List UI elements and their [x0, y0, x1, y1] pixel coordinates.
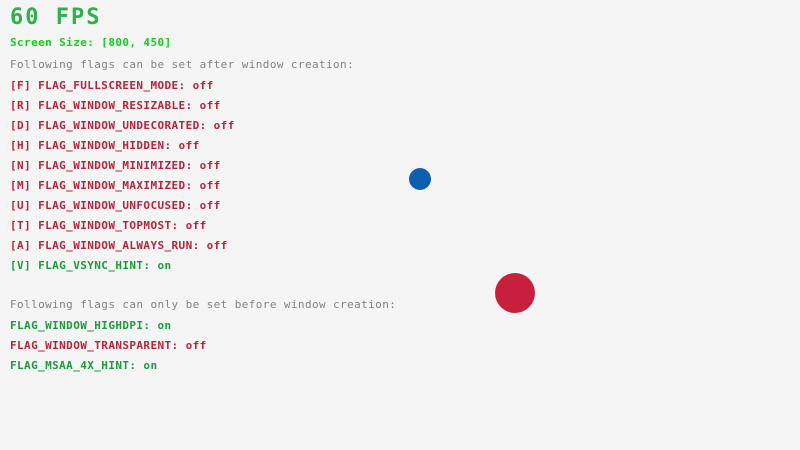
- flag-row-fullscreen-mode[interactable]: [F] FLAG_FULLSCREEN_MODE: off: [10, 80, 214, 91]
- fps-counter: 60 FPS: [10, 7, 101, 29]
- flag-row-window-topmost[interactable]: [T] FLAG_WINDOW_TOPMOST: off: [10, 220, 207, 231]
- flag-row-msaa-4x-hint: FLAG_MSAA_4X_HINT: on: [10, 360, 157, 371]
- blue-circle: [409, 168, 431, 190]
- flag-row-window-hidden[interactable]: [H] FLAG_WINDOW_HIDDEN: off: [10, 140, 200, 151]
- flag-row-window-minimized[interactable]: [N] FLAG_WINDOW_MINIMIZED: off: [10, 160, 221, 171]
- red-circle: [495, 273, 535, 313]
- flag-row-window-transparent: FLAG_WINDOW_TRANSPARENT: off: [10, 340, 207, 351]
- section-heading-before-creation: Following flags can only be set before w…: [10, 299, 396, 310]
- flag-row-window-resizable[interactable]: [R] FLAG_WINDOW_RESIZABLE: off: [10, 100, 221, 111]
- flag-row-window-maximized[interactable]: [M] FLAG_WINDOW_MAXIMIZED: off: [10, 180, 221, 191]
- flag-row-window-undecorated[interactable]: [D] FLAG_WINDOW_UNDECORATED: off: [10, 120, 235, 131]
- app-canvas[interactable]: 60 FPS Screen Size: [800, 450] Following…: [0, 0, 800, 450]
- flag-row-window-unfocused[interactable]: [U] FLAG_WINDOW_UNFOCUSED: off: [10, 200, 221, 211]
- screen-size-label: Screen Size: [800, 450]: [10, 37, 172, 48]
- section-heading-after-creation: Following flags can be set after window …: [10, 59, 354, 70]
- flag-row-vsync-hint[interactable]: [V] FLAG_VSYNC_HINT: on: [10, 260, 172, 271]
- flag-row-window-highdpi: FLAG_WINDOW_HIGHDPI: on: [10, 320, 172, 331]
- flag-row-window-always-run[interactable]: [A] FLAG_WINDOW_ALWAYS_RUN: off: [10, 240, 228, 251]
